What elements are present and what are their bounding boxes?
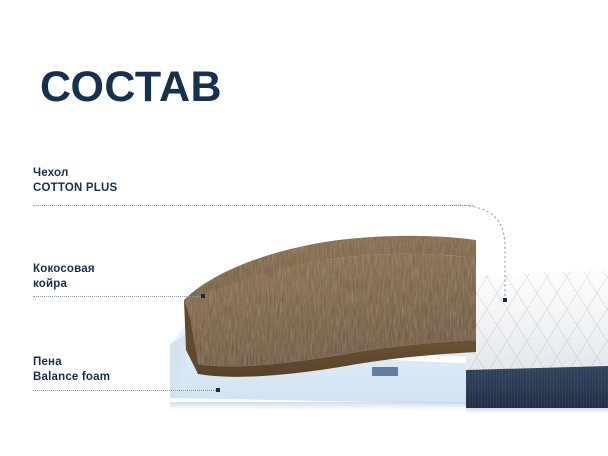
leader-line-foam (33, 390, 218, 392)
cover-shadow (466, 408, 608, 414)
leader-line-coir (33, 296, 203, 298)
label-coir: Кокосовая койра (33, 262, 95, 291)
label-coir-line2: койра (33, 277, 95, 292)
leader-dot-cover (503, 298, 507, 302)
foam-base-shadow (170, 402, 482, 410)
label-foam-line2: Balance foam (33, 370, 110, 385)
leader-dot-foam (216, 388, 220, 392)
leader-dot-coir (201, 294, 205, 298)
label-cover-line1: Чехол (33, 167, 68, 179)
label-cover-line2: COTTON PLUS (33, 181, 117, 196)
label-coir-line1: Кокосовая (33, 263, 95, 275)
leader-line-cover (33, 205, 473, 207)
label-foam-line1: Пена (33, 356, 62, 368)
label-foam: Пена Balance foam (33, 355, 110, 384)
infographic-canvas: СОСТАВ (0, 0, 608, 456)
coconut-coir-layer (176, 230, 496, 380)
label-cover: Чехол COTTON PLUS (33, 166, 117, 195)
page-title: СОСТАВ (40, 64, 222, 110)
brand-logo-badge (372, 367, 398, 376)
mattress-illustration (170, 230, 608, 435)
leader-line-cover-curve (455, 196, 525, 308)
